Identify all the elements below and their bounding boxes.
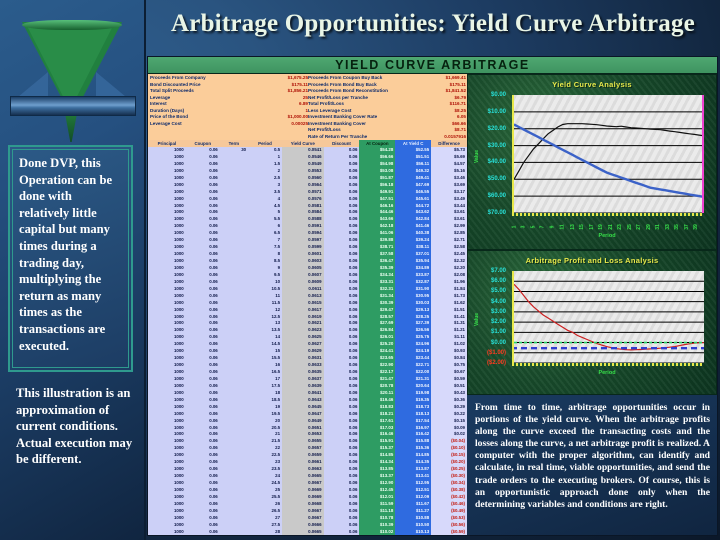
table-cell[interactable]: 1000: [148, 515, 186, 522]
table-cell[interactable]: 0.06: [186, 341, 220, 348]
table-cell[interactable]: ($0.38): [431, 487, 467, 494]
table-cell[interactable]: 1000: [148, 390, 186, 397]
table-cell[interactable]: [220, 244, 248, 251]
table-cell[interactable]: 8.5: [248, 258, 282, 265]
table-cell[interactable]: 0.0597: [282, 237, 324, 244]
table-cell[interactable]: 0.06: [186, 203, 220, 210]
table-row[interactable]: 10000.0650.05840.06$44.46$43.62$3.61: [148, 209, 467, 216]
table-cell[interactable]: $13.85: [359, 466, 395, 473]
table-cell[interactable]: $24.19: [395, 348, 431, 355]
table-cell[interactable]: $1.51: [431, 307, 467, 314]
table-cell[interactable]: $0.84: [431, 355, 467, 362]
table-cell[interactable]: $0.67: [431, 369, 467, 376]
table-cell[interactable]: 0.0581: [282, 203, 324, 210]
table-cell[interactable]: $16.42: [395, 431, 431, 438]
table-cell[interactable]: $18.21: [359, 411, 395, 418]
table-cell[interactable]: 0.06: [186, 307, 220, 314]
table-cell[interactable]: 17.5: [248, 383, 282, 390]
table-cell[interactable]: 1000: [148, 272, 186, 279]
table-cell[interactable]: $51.87: [359, 175, 395, 182]
table-cell[interactable]: 1000: [148, 168, 186, 175]
table-cell[interactable]: $38.11: [395, 244, 431, 251]
table-row[interactable]: 10000.0670.05970.06$39.88$39.24$2.71: [148, 237, 467, 244]
table-cell[interactable]: 0.0667: [282, 508, 324, 515]
table-cell[interactable]: $11.67: [395, 501, 431, 508]
table-cell[interactable]: $22.71: [395, 362, 431, 369]
table-cell[interactable]: 1000: [148, 265, 186, 272]
table-cell[interactable]: $9.78: [395, 536, 431, 537]
table-cell[interactable]: [220, 404, 248, 411]
table-row[interactable]: 10000.0630.05640.06$56.18$47.69$3.69: [148, 182, 467, 189]
table-cell[interactable]: $2.32: [431, 258, 467, 265]
table-row[interactable]: 10000.0620.05530.06$53.08$49.32$5.16: [148, 168, 467, 175]
table-cell[interactable]: $47.69: [395, 182, 431, 189]
table-cell[interactable]: 15.5: [248, 355, 282, 362]
table-cell[interactable]: 0.0617: [282, 307, 324, 314]
table-cell[interactable]: 4.5: [248, 203, 282, 210]
table-row[interactable]: 10000.06280.06650.06$10.02$10.13($0.59): [148, 529, 467, 536]
table-cell[interactable]: ($0.42): [431, 494, 467, 501]
table-cell[interactable]: 0.06: [324, 272, 360, 279]
table-cell[interactable]: [220, 279, 248, 286]
table-cell[interactable]: 0.06: [324, 480, 360, 487]
table-row[interactable]: 10000.06170.06370.06$21.47$21.31$0.59: [148, 376, 467, 383]
table-cell[interactable]: 0.06: [324, 168, 360, 175]
table-cell[interactable]: $0.02: [431, 431, 467, 438]
table-cell[interactable]: $30.03: [395, 300, 431, 307]
table-cell[interactable]: 0.06: [186, 404, 220, 411]
table-cell[interactable]: 0.06: [324, 522, 360, 529]
table-cell[interactable]: 1000: [148, 466, 186, 473]
table-cell[interactable]: 6.5: [248, 230, 282, 237]
table-cell[interactable]: 0.0663: [282, 466, 324, 473]
table-cell[interactable]: $26.56: [395, 327, 431, 334]
table-cell[interactable]: 0.06: [324, 397, 360, 404]
table-cell[interactable]: 1000: [148, 216, 186, 223]
table-row[interactable]: 10000.0612.50.06190.06$28.57$28.25$1.41: [148, 314, 467, 321]
table-cell[interactable]: 0.0651: [282, 425, 324, 432]
table-cell[interactable]: 20.5: [248, 425, 282, 432]
table-column-header[interactable]: At Coupon: [359, 140, 395, 147]
table-cell[interactable]: 0.0553: [282, 168, 324, 175]
table-cell[interactable]: 0.06: [186, 480, 220, 487]
table-cell[interactable]: 1000: [148, 314, 186, 321]
table-cell[interactable]: 1000: [148, 196, 186, 203]
table-cell[interactable]: 0.06: [324, 293, 360, 300]
table-cell[interactable]: 0.06: [186, 223, 220, 230]
table-row[interactable]: 10000.06120.06170.06$29.47$29.13$1.51: [148, 307, 467, 314]
table-cell[interactable]: [220, 355, 248, 362]
table-cell[interactable]: ($0.34): [431, 480, 467, 487]
table-cell[interactable]: $46.16: [359, 203, 395, 210]
table-cell[interactable]: $12.45: [359, 487, 395, 494]
table-cell[interactable]: $2.71: [431, 237, 467, 244]
table-cell[interactable]: 1000: [148, 244, 186, 251]
table-cell[interactable]: 0.0627: [282, 341, 324, 348]
table-cell[interactable]: $14.85: [395, 452, 431, 459]
table-row[interactable]: 10000.0617.50.06390.06$20.78$20.64$0.51: [148, 383, 467, 390]
table-cell[interactable]: $11.27: [395, 508, 431, 515]
table-cell[interactable]: $5.73: [431, 147, 467, 154]
table-cell[interactable]: 0.06: [324, 536, 360, 537]
table-cell[interactable]: 0.06: [186, 168, 220, 175]
table-cell[interactable]: 24.5: [248, 480, 282, 487]
table-cell[interactable]: $3.44: [431, 203, 467, 210]
table-cell[interactable]: 1000: [148, 237, 186, 244]
table-cell[interactable]: 1000: [148, 293, 186, 300]
table-row[interactable]: 10000.064.50.05810.06$46.16$44.72$3.44: [148, 203, 467, 210]
table-cell[interactable]: $25.75: [395, 334, 431, 341]
table-cell[interactable]: [220, 216, 248, 223]
table-cell[interactable]: $11.18: [359, 508, 395, 515]
table-cell[interactable]: 1000: [148, 522, 186, 529]
table-cell[interactable]: [220, 327, 248, 334]
table-cell[interactable]: 0.06: [324, 196, 360, 203]
table-cell[interactable]: 0.06: [324, 348, 360, 355]
table-row[interactable]: 10000.0625.50.06690.06$12.01$12.09($0.42…: [148, 494, 467, 501]
table-row[interactable]: 10000.067.50.05990.06$38.71$38.11$2.58: [148, 244, 467, 251]
table-cell[interactable]: [220, 196, 248, 203]
table-cell[interactable]: $33.31: [359, 279, 395, 286]
table-cell[interactable]: 0.06: [324, 147, 360, 154]
table-cell[interactable]: 0.06: [186, 314, 220, 321]
table-row[interactable]: 10000.06200.06490.06$17.61$17.54$0.15: [148, 418, 467, 425]
table-cell[interactable]: [220, 508, 248, 515]
table-cell[interactable]: 0.0571: [282, 189, 324, 196]
table-cell[interactable]: 1000: [148, 397, 186, 404]
table-cell[interactable]: $43.66: [359, 216, 395, 223]
table-cell[interactable]: 0.0564: [282, 182, 324, 189]
table-cell[interactable]: $35.94: [395, 258, 431, 265]
table-row[interactable]: 10000.0628.50.06640.06$9.66$9.78($0.62): [148, 536, 467, 537]
table-cell[interactable]: $18.13: [395, 411, 431, 418]
table-cell[interactable]: [220, 494, 248, 501]
table-cell[interactable]: 1000: [148, 383, 186, 390]
table-cell[interactable]: 0.0653: [282, 431, 324, 438]
table-cell[interactable]: 5: [248, 209, 282, 216]
table-cell[interactable]: 1000: [148, 355, 186, 362]
table-cell[interactable]: 0.06: [324, 203, 360, 210]
table-row[interactable]: 10000.0622.50.06590.06$14.85$14.85($0.15…: [148, 452, 467, 459]
table-cell[interactable]: [220, 314, 248, 321]
table-cell[interactable]: [220, 154, 248, 161]
table-cell[interactable]: 1000: [148, 230, 186, 237]
table-cell[interactable]: $34.34: [359, 272, 395, 279]
table-cell[interactable]: 0.06: [324, 445, 360, 452]
table-cell[interactable]: [220, 529, 248, 536]
table-cell[interactable]: 0.06: [186, 515, 220, 522]
table-cell[interactable]: 0.06: [324, 487, 360, 494]
table-row[interactable]: 10000.06300.50.05410.06$54.28$52.55$5.73: [148, 147, 467, 154]
table-cell[interactable]: 2.5: [248, 175, 282, 182]
table-cell[interactable]: [220, 230, 248, 237]
table-cell[interactable]: $36.47: [359, 258, 395, 265]
table-cell[interactable]: 11.5: [248, 300, 282, 307]
table-cell[interactable]: 10: [248, 279, 282, 286]
table-cell[interactable]: $34.89: [395, 265, 431, 272]
table-cell[interactable]: [220, 334, 248, 341]
table-column-header[interactable]: Difference: [431, 140, 467, 147]
table-cell[interactable]: 0.0657: [282, 445, 324, 452]
table-cell[interactable]: 18.5: [248, 397, 282, 404]
table-cell[interactable]: $54.98: [359, 161, 395, 168]
table-cell[interactable]: 0.06: [186, 466, 220, 473]
table-cell[interactable]: 26: [248, 501, 282, 508]
table-cell[interactable]: $37.58: [359, 251, 395, 258]
table-cell[interactable]: $0.93: [431, 348, 467, 355]
table-row[interactable]: 10000.06250.06690.06$12.45$12.51($0.38): [148, 487, 467, 494]
table-cell[interactable]: 0.0639: [282, 383, 324, 390]
table-cell[interactable]: [220, 369, 248, 376]
table-cell[interactable]: 0.0665: [282, 529, 324, 536]
table-row[interactable]: 10000.0626.50.06670.06$11.18$11.27($0.49…: [148, 508, 467, 515]
table-column-header[interactable]: At Yield C: [395, 140, 431, 147]
table-cell[interactable]: 0.06: [324, 376, 360, 383]
table-cell[interactable]: ($0.49): [431, 508, 467, 515]
table-cell[interactable]: $10.88: [395, 515, 431, 522]
table-cell[interactable]: 26.5: [248, 508, 282, 515]
table-cell[interactable]: $1.31: [431, 320, 467, 327]
table-cell[interactable]: $13.41: [395, 473, 431, 480]
table-cell[interactable]: 4: [248, 196, 282, 203]
table-cell[interactable]: 1000: [148, 452, 186, 459]
table-cell[interactable]: 0.06: [324, 473, 360, 480]
table-cell[interactable]: 0.0666: [282, 522, 324, 529]
table-cell[interactable]: 0.06: [186, 320, 220, 327]
table-cell[interactable]: 0.06: [324, 425, 360, 432]
table-row[interactable]: 10000.0618.50.06430.06$19.46$19.35$0.36: [148, 397, 467, 404]
table-row[interactable]: 10000.06220.06570.06$15.37$15.36($0.10): [148, 445, 467, 452]
table-cell[interactable]: [220, 182, 248, 189]
table-cell[interactable]: 23: [248, 459, 282, 466]
table-cell[interactable]: [220, 286, 248, 293]
table-cell[interactable]: 0.0629: [282, 348, 324, 355]
table-cell[interactable]: 0.06: [186, 473, 220, 480]
table-cell[interactable]: 1000: [148, 320, 186, 327]
table-cell[interactable]: 0.0605: [282, 265, 324, 272]
table-cell[interactable]: $3.61: [431, 216, 467, 223]
table-cell[interactable]: $49.32: [395, 168, 431, 175]
table-cell[interactable]: 13: [248, 320, 282, 327]
table-cell[interactable]: 21: [248, 431, 282, 438]
table-cell[interactable]: 0.06: [186, 355, 220, 362]
table-cell[interactable]: 0.06: [186, 536, 220, 537]
table-cell[interactable]: 0.06: [186, 522, 220, 529]
table-cell[interactable]: [220, 209, 248, 216]
table-cell[interactable]: $11.59: [359, 501, 395, 508]
table-cell[interactable]: [220, 175, 248, 182]
table-cell[interactable]: 0.06: [186, 362, 220, 369]
table-row[interactable]: 10000.068.50.06030.06$36.47$35.94$2.32: [148, 258, 467, 265]
table-cell[interactable]: 0.06: [324, 411, 360, 418]
table-cell[interactable]: $3.49: [431, 196, 467, 203]
table-cell[interactable]: $1.62: [431, 300, 467, 307]
table-cell[interactable]: 0.06: [186, 397, 220, 404]
table-cell[interactable]: [220, 466, 248, 473]
table-cell[interactable]: $43.62: [395, 209, 431, 216]
table-cell[interactable]: [220, 536, 248, 537]
table-cell[interactable]: 6: [248, 223, 282, 230]
table-cell[interactable]: 0.0623: [282, 327, 324, 334]
table-cell[interactable]: $39.88: [359, 237, 395, 244]
table-cell[interactable]: $31.34: [359, 293, 395, 300]
table-cell[interactable]: [220, 501, 248, 508]
table-cell[interactable]: 1000: [148, 445, 186, 452]
table-cell[interactable]: $46.55: [395, 189, 431, 196]
table-cell[interactable]: $23.44: [395, 355, 431, 362]
table-cell[interactable]: 1000: [148, 508, 186, 515]
table-cell[interactable]: 0.06: [186, 452, 220, 459]
table-cell[interactable]: 0.06: [324, 175, 360, 182]
table-cell[interactable]: $54.28: [359, 147, 395, 154]
table-cell[interactable]: 0.0560: [282, 175, 324, 182]
table-cell[interactable]: $3.17: [431, 189, 467, 196]
table-cell[interactable]: $2.85: [431, 230, 467, 237]
table-cell[interactable]: [220, 293, 248, 300]
table-cell[interactable]: 0.06: [186, 348, 220, 355]
table-cell[interactable]: 13.5: [248, 327, 282, 334]
table-cell[interactable]: 1000: [148, 473, 186, 480]
table-cell[interactable]: 0.06: [186, 175, 220, 182]
table-cell[interactable]: $12.90: [359, 480, 395, 487]
table-cell[interactable]: 1000: [148, 348, 186, 355]
table-cell[interactable]: [220, 397, 248, 404]
table-cell[interactable]: 1000: [148, 341, 186, 348]
table-cell[interactable]: 16: [248, 362, 282, 369]
table-cell[interactable]: 0.06: [186, 216, 220, 223]
table-cell[interactable]: 0.0611: [282, 286, 324, 293]
table-cell[interactable]: $25.20: [359, 341, 395, 348]
table-cell[interactable]: 1000: [148, 286, 186, 293]
table-row[interactable]: 10000.06190.06450.06$18.83$18.73$0.29: [148, 404, 467, 411]
table-cell[interactable]: 22: [248, 445, 282, 452]
table-cell[interactable]: $24.41: [359, 348, 395, 355]
table-cell[interactable]: $41.06: [359, 230, 395, 237]
table-cell[interactable]: 0.06: [324, 154, 360, 161]
table-row[interactable]: 10000.06110.06130.06$31.34$30.95$1.73: [148, 293, 467, 300]
table-cell[interactable]: $42.18: [359, 223, 395, 230]
table-cell[interactable]: 1000: [148, 327, 186, 334]
table-cell[interactable]: 0.06: [186, 286, 220, 293]
table-cell[interactable]: $12.01: [359, 494, 395, 501]
table-cell[interactable]: 16.5: [248, 369, 282, 376]
table-cell[interactable]: ($0.15): [431, 452, 467, 459]
table-cell[interactable]: $37.01: [395, 251, 431, 258]
table-cell[interactable]: 0.0625: [282, 334, 324, 341]
table-cell[interactable]: 20: [248, 418, 282, 425]
table-cell[interactable]: 0.0601: [282, 251, 324, 258]
table-cell[interactable]: [220, 237, 248, 244]
table-cell[interactable]: 0.06: [186, 161, 220, 168]
table-cell[interactable]: [220, 258, 248, 265]
table-cell[interactable]: 1000: [148, 182, 186, 189]
table-cell[interactable]: $1.96: [431, 279, 467, 286]
table-cell[interactable]: 0.0594: [282, 230, 324, 237]
table-cell[interactable]: $1.11: [431, 334, 467, 341]
table-cell[interactable]: 5.5: [248, 216, 282, 223]
table-cell[interactable]: 0.0633: [282, 362, 324, 369]
table-cell[interactable]: 1000: [148, 307, 186, 314]
table-cell[interactable]: $1.41: [431, 314, 467, 321]
table-cell[interactable]: 1000: [148, 501, 186, 508]
table-cell[interactable]: 3: [248, 182, 282, 189]
table-cell[interactable]: $28.25: [395, 314, 431, 321]
table-cell[interactable]: 19.5: [248, 411, 282, 418]
table-cell[interactable]: $12.09: [395, 494, 431, 501]
table-row[interactable]: 10000.06240.06650.06$13.37$13.41($0.30): [148, 473, 467, 480]
table-cell[interactable]: 0.06: [324, 300, 360, 307]
table-cell[interactable]: 11: [248, 293, 282, 300]
table-cell[interactable]: $30.39: [359, 300, 395, 307]
table-cell[interactable]: 0.06: [324, 452, 360, 459]
table-cell[interactable]: $14.35: [395, 459, 431, 466]
table-cell[interactable]: $56.11: [395, 161, 431, 168]
table-cell[interactable]: [220, 168, 248, 175]
table-cell[interactable]: 1000: [148, 189, 186, 196]
table-cell[interactable]: $16.97: [395, 425, 431, 432]
table-cell[interactable]: 0.0599: [282, 244, 324, 251]
table-cell[interactable]: 10.5: [248, 286, 282, 293]
table-cell[interactable]: 0.06: [324, 466, 360, 473]
table-cell[interactable]: 0.06: [324, 362, 360, 369]
table-cell[interactable]: 1000: [148, 300, 186, 307]
table-cell[interactable]: 1000: [148, 404, 186, 411]
table-cell[interactable]: $0.51: [431, 383, 467, 390]
table-cell[interactable]: 1000: [148, 203, 186, 210]
table-cell[interactable]: 0.06: [324, 320, 360, 327]
table-cell[interactable]: $14.34: [359, 459, 395, 466]
table-row[interactable]: 10000.0610.05460.06$56.66$51.51$5.69: [148, 154, 467, 161]
table-cell[interactable]: ($0.59): [431, 529, 467, 536]
table-cell[interactable]: $23.65: [359, 355, 395, 362]
table-cell[interactable]: $10.50: [395, 522, 431, 529]
table-cell[interactable]: 0.0588: [282, 216, 324, 223]
table-cell[interactable]: 0.06: [186, 293, 220, 300]
table-cell[interactable]: 1000: [148, 209, 186, 216]
table-cell[interactable]: 0.0576: [282, 196, 324, 203]
table-cell[interactable]: 1000: [148, 411, 186, 418]
table-cell[interactable]: 12: [248, 307, 282, 314]
table-cell[interactable]: 0.0668: [282, 501, 324, 508]
table-cell[interactable]: 0.06: [186, 209, 220, 216]
table-cell[interactable]: 0.06: [186, 369, 220, 376]
table-cell[interactable]: $22.17: [359, 369, 395, 376]
table-cell[interactable]: 0.06: [186, 459, 220, 466]
table-row[interactable]: 10000.06260.06680.06$11.59$11.67($0.46): [148, 501, 467, 508]
table-cell[interactable]: 0.06: [324, 237, 360, 244]
table-cell[interactable]: [220, 383, 248, 390]
table-cell[interactable]: 0.06: [186, 501, 220, 508]
table-cell[interactable]: $3.69: [431, 182, 467, 189]
table-cell[interactable]: [220, 272, 248, 279]
table-cell[interactable]: ($0.56): [431, 522, 467, 529]
table-cell[interactable]: [220, 522, 248, 529]
table-cell[interactable]: 0.06: [186, 196, 220, 203]
table-cell[interactable]: 0.06: [324, 223, 360, 230]
table-cell[interactable]: 0.0603: [282, 258, 324, 265]
table-cell[interactable]: [220, 265, 248, 272]
table-cell[interactable]: 0.0641: [282, 390, 324, 397]
table-cell[interactable]: 1000: [148, 438, 186, 445]
table-row[interactable]: 10000.063.50.05710.06$49.91$46.55$3.17: [148, 189, 467, 196]
table-row[interactable]: 10000.06140.06250.06$26.01$25.75$1.11: [148, 334, 467, 341]
table-cell[interactable]: 0.06: [324, 501, 360, 508]
table-cell[interactable]: 1000: [148, 279, 186, 286]
table-cell[interactable]: 1000: [148, 251, 186, 258]
table-row[interactable]: 10000.0619.50.06470.06$18.21$18.13$0.22: [148, 411, 467, 418]
table-cell[interactable]: 0.06: [324, 327, 360, 334]
table-cell[interactable]: $3.61: [431, 209, 467, 216]
